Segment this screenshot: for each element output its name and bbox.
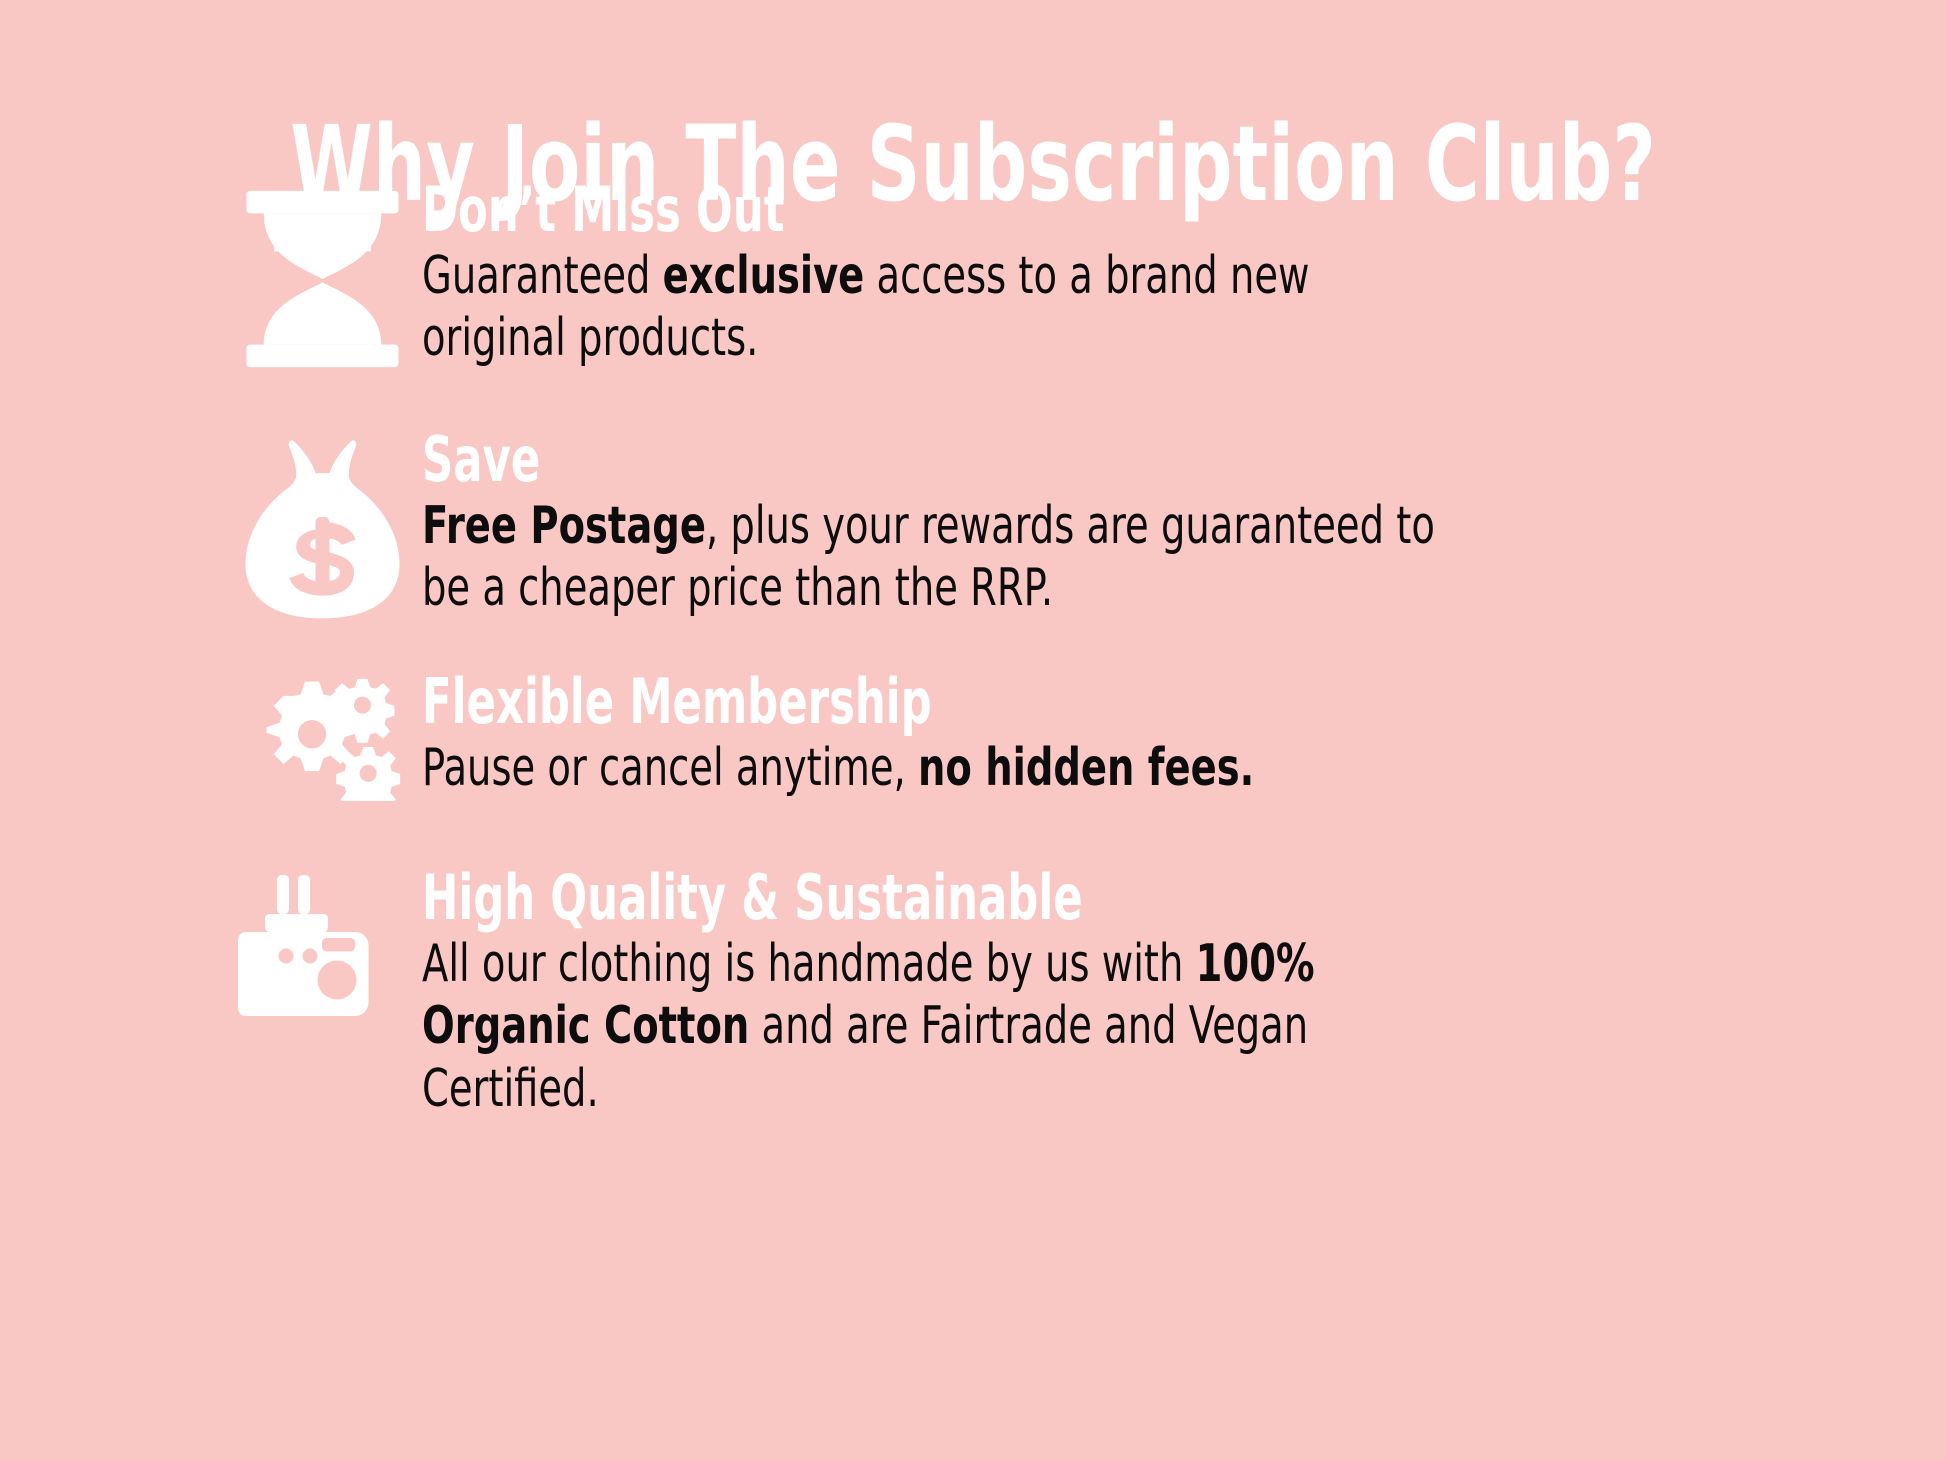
benefit-row-save: Save Free Postage, plus your rewards are… (222, 430, 1922, 620)
benefit-text-save: Save Free Postage, plus your rewards are… (422, 430, 1922, 620)
body-span: Guaranteed (422, 246, 663, 306)
gears-icon (222, 672, 422, 801)
benefit-text-dont-miss-out: Don’t Miss Out Guaranteed exclusive acce… (422, 180, 1922, 370)
benefit-body: All our clothing is handmade by us with … (422, 933, 1451, 1120)
benefit-text-high-quality: High Quality & Sustainable All our cloth… (422, 868, 1922, 1120)
body-span-bold: no hidden fees. (918, 738, 1254, 798)
benefit-row-flexible-membership: Flexible Membership Pause or cancel anyt… (222, 672, 1922, 801)
body-span: Pause or cancel anytime, (422, 738, 918, 798)
benefit-heading: Don’t Miss Out (422, 180, 1472, 241)
body-span: All our clothing is handmade by us with (422, 934, 1196, 994)
benefit-row-dont-miss-out: Don’t Miss Out Guaranteed exclusive acce… (222, 180, 1922, 374)
sewing-machine-icon (222, 868, 422, 1022)
benefit-body: Free Postage, plus your rewards are guar… (422, 495, 1451, 620)
benefit-body: Guaranteed exclusive access to a brand n… (422, 245, 1451, 370)
benefit-heading: Flexible Membership (422, 672, 1472, 733)
body-span-bold: Free Postage (422, 496, 706, 556)
hourglass-icon (222, 180, 422, 374)
body-span-bold: exclusive (663, 246, 865, 306)
benefit-row-high-quality: High Quality & Sustainable All our cloth… (222, 868, 1922, 1120)
benefit-body: Pause or cancel anytime, no hidden fees. (422, 737, 1451, 799)
promo-poster: Why Join The Subscription Club? Don’t Mi… (0, 0, 1946, 1460)
benefit-heading: Save (422, 430, 1472, 491)
money-bag-icon (222, 430, 422, 619)
benefit-text-flexible-membership: Flexible Membership Pause or cancel anyt… (422, 672, 1922, 799)
benefit-heading: High Quality & Sustainable (422, 868, 1472, 929)
